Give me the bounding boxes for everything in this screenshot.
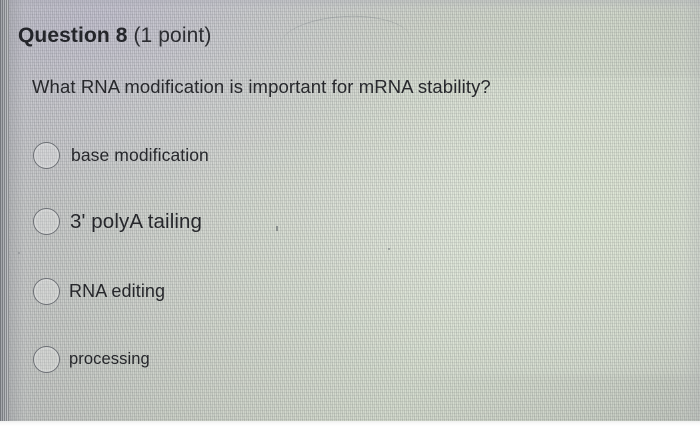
answer-option-label: base modification xyxy=(71,145,209,166)
question-points-label: (1 point) xyxy=(133,24,211,47)
answer-option-0[interactable]: base modification xyxy=(33,142,209,169)
quiz-question-screenshot: Question 8 (1 point) What RNA modificati… xyxy=(0,0,700,426)
radio-button-icon[interactable] xyxy=(33,346,60,373)
question-prompt: What RNA modification is important for m… xyxy=(32,76,491,98)
answer-option-label: 3' polyA tailing xyxy=(70,210,202,234)
question-header: Question 8 (1 point) xyxy=(18,24,211,48)
radio-button-icon[interactable] xyxy=(33,208,60,235)
radio-button-icon[interactable] xyxy=(33,278,60,305)
question-content: Question 8 (1 point) What RNA modificati… xyxy=(0,0,700,426)
question-number-label: Question 8 xyxy=(18,24,128,47)
radio-button-icon[interactable] xyxy=(33,142,60,169)
answer-option-3[interactable]: processing xyxy=(33,346,150,373)
answer-option-label: processing xyxy=(69,350,150,369)
answer-option-2[interactable]: RNA editing xyxy=(33,278,165,305)
answer-option-1[interactable]: 3' polyA tailing xyxy=(33,208,202,235)
answer-option-label: RNA editing xyxy=(69,281,165,302)
